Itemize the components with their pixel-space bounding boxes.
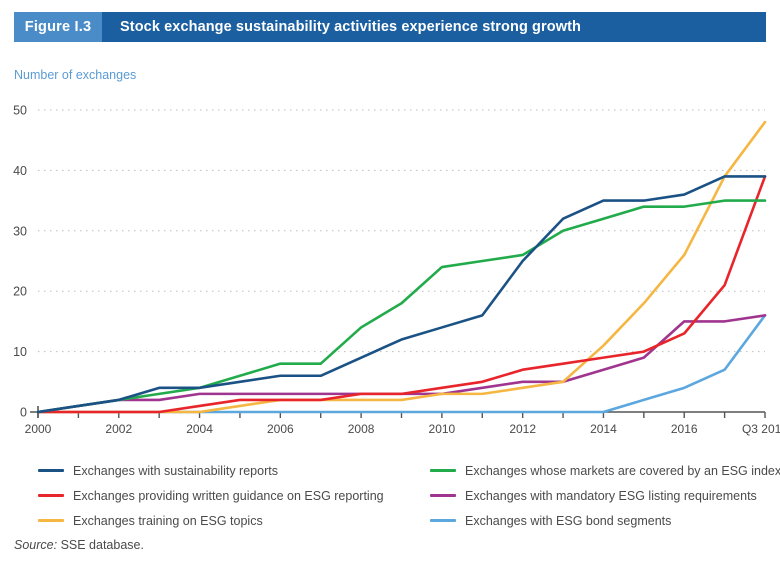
series-line xyxy=(38,122,765,412)
legend-item[interactable]: Exchanges training on ESG topics xyxy=(38,514,430,528)
legend-label: Exchanges training on ESG topics xyxy=(73,514,263,528)
y-axis-tick-label: 50 xyxy=(13,104,27,118)
x-axis-tick-label: 2014 xyxy=(590,422,617,436)
series-line xyxy=(38,176,765,412)
legend-color-swatch xyxy=(38,469,64,473)
chart-area: 0102030405020002002200420062008201020122… xyxy=(0,0,780,450)
chart-legend: Exchanges with sustainability reportsExc… xyxy=(38,458,768,533)
x-axis-tick-label: 2008 xyxy=(348,422,375,436)
legend-color-swatch xyxy=(430,519,456,523)
x-axis-tick-label: 2000 xyxy=(25,422,52,436)
legend-label: Exchanges providing written guidance on … xyxy=(73,489,384,503)
legend-item[interactable]: Exchanges whose markets are covered by a… xyxy=(430,464,780,478)
legend-color-swatch xyxy=(38,494,64,498)
legend-label: Exchanges whose markets are covered by a… xyxy=(465,464,780,478)
legend-item[interactable]: Exchanges with sustainability reports xyxy=(38,464,430,478)
y-axis-tick-label: 20 xyxy=(13,285,27,299)
x-axis-tick-label: 2006 xyxy=(267,422,294,436)
source-prefix: Source: xyxy=(14,538,57,552)
legend-color-swatch xyxy=(38,519,64,523)
legend-item[interactable]: Exchanges with mandatory ESG listing req… xyxy=(430,489,780,503)
y-axis-tick-label: 40 xyxy=(13,164,27,178)
y-axis-tick-label: 30 xyxy=(13,224,27,238)
x-axis-tick-label: 2010 xyxy=(429,422,456,436)
x-axis-tick-label: Q3 2018 xyxy=(742,422,780,436)
y-axis-tick-label: 10 xyxy=(13,345,27,359)
legend-label: Exchanges with sustainability reports xyxy=(73,464,278,478)
series-line xyxy=(38,201,765,412)
series-line xyxy=(38,176,765,412)
legend-item[interactable]: Exchanges with ESG bond segments xyxy=(430,514,780,528)
y-axis-tick-label: 0 xyxy=(20,406,27,420)
x-axis-tick-label: 2004 xyxy=(186,422,213,436)
legend-item[interactable]: Exchanges providing written guidance on … xyxy=(38,489,430,503)
x-axis-tick-label: 2012 xyxy=(509,422,536,436)
source-text: SSE database. xyxy=(57,538,144,552)
legend-color-swatch xyxy=(430,469,456,473)
x-axis-tick-label: 2016 xyxy=(671,422,698,436)
legend-label: Exchanges with mandatory ESG listing req… xyxy=(465,489,757,503)
legend-label: Exchanges with ESG bond segments xyxy=(465,514,671,528)
x-axis-tick-label: 2002 xyxy=(105,422,132,436)
series-line xyxy=(38,315,765,412)
legend-color-swatch xyxy=(430,494,456,498)
source-note: Source: SSE database. xyxy=(14,538,144,552)
line-chart: 0102030405020002002200420062008201020122… xyxy=(0,0,780,450)
